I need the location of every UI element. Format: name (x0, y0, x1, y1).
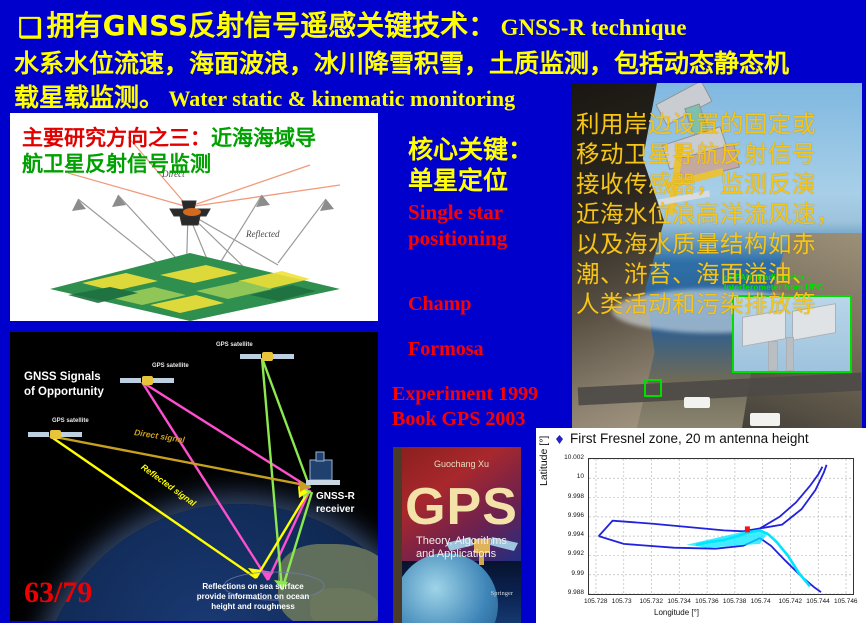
single-star-en-line2: positioning (408, 226, 558, 252)
gnss-signals-title-line1: GNSS Signals (24, 371, 101, 383)
book-subtitle-line1: Theory, Algorithms (416, 535, 507, 547)
chart-ytick: 10 (536, 473, 584, 480)
green-highlight-box (644, 379, 662, 397)
overlay-line-1: 利用岸边设置的固定或 (576, 109, 862, 139)
legend-diamond-icon (556, 435, 563, 444)
reflection-note: Reflections on sea surface provide infor… (193, 582, 313, 613)
chart-title: First Fresnel zone, 20 m antenna height (570, 431, 809, 446)
book-subtitle-line2: and Applications (416, 548, 496, 560)
gnss-signals-title-line2: of Opportunity (24, 386, 104, 398)
receiver-label-line2: receiver (316, 504, 354, 515)
chart-series-river-bank-outline-(north) (599, 467, 823, 536)
van-white (684, 397, 710, 408)
chart-series-graphic (589, 459, 853, 594)
van-camper (750, 413, 780, 426)
chart-xtick: 105.732 (640, 598, 664, 605)
item-formosa: Formosa (408, 338, 558, 361)
chart-xtick: 105.734 (667, 598, 691, 605)
white-panel-caption: 主要研究方向之三：近海海域导 航卫星反射信号监测 (22, 125, 316, 178)
chart-ytick: 9.988 (536, 589, 584, 596)
chart-ytick: 9.994 (536, 531, 584, 538)
chart-ytick: 9.99 (536, 570, 584, 577)
chart-xtick: 105.73 (612, 598, 632, 605)
satellite-label-1: GPS satellite (52, 418, 89, 424)
coast-overlay-text: 利用岸边设置的固定或 移动卫星导航反射信号 接收传感器，监测反演 近海水位浪高洋… (576, 109, 862, 320)
core-key-cn-line2: 单星定位 (408, 166, 558, 197)
chart-plot-area (588, 458, 854, 595)
core-key-cn-line1: 核心关键： (408, 135, 558, 166)
caption-red-text: 主要研究方向之三： (22, 126, 211, 150)
header-subtitle-cn-2: 载星载监测。 (14, 83, 164, 112)
reflection-diagram-panel: Direct Reflected 主要研究方向之三：近海海域导 航卫星反射信号监… (10, 113, 378, 321)
caption-green-line2: 航卫星反射信号监测 (22, 152, 211, 176)
header-line-2: 水系水位流速，海面波浪，冰川降雪积雪，土质监测，包括动态静态机 (14, 44, 789, 80)
gnss-signals-diagram-panel: GPS satellite GPS satellite GPS satellit… (10, 332, 378, 621)
chart-series-branch-outline-(east-north) (760, 465, 827, 529)
item-champ: Champ (408, 293, 558, 316)
overlay-line-5: 以及海水质量结构如赤 (576, 229, 862, 259)
header-line-1: ❑ 拥有GNSS反射信号遥感关键技术： GNSS-R technique (18, 4, 687, 44)
chart-ytick: 9.998 (536, 493, 584, 500)
chart-xtick: 105.738 (723, 598, 747, 605)
overlay-line-4: 近海水位浪高洋流风速， (576, 199, 862, 229)
chart-ytick: 10.002 (536, 454, 584, 461)
page-number: 63/79 (24, 576, 92, 610)
receiver-label-line1: GNSS-R (316, 491, 355, 502)
book-subtitle: Theory, Algorithms and Applications (416, 535, 516, 561)
chart-xlabel: Longitude [°] (654, 608, 699, 617)
item-experiment-1999: Experiment 1999 (392, 383, 558, 406)
header-title-cn: 拥有GNSS反射信号遥感关键技术： (47, 9, 497, 42)
chart-xtick: 105.728 (584, 598, 608, 605)
overlay-line-6: 潮、浒苔、海面溢油、 (576, 259, 862, 289)
caption-green-tail: 近海海域导 (211, 126, 316, 150)
header-subtitle-cn: 水系水位流速，海面波浪，冰川降雪积雪，土质监测，包括动态静态机 (14, 49, 789, 78)
chart-marker-antenna-position (745, 526, 750, 532)
slide-canvas: ❑ 拥有GNSS反射信号遥感关键技术： GNSS-R technique 水系水… (0, 0, 866, 623)
gps-book-cover: Guochang Xu GPS Theory, Algorithms and A… (393, 447, 521, 623)
gnss-signals-title: GNSS Signals of Opportunity (24, 370, 104, 400)
chart-xtick: 105.746 (834, 598, 858, 605)
book-title: GPS (402, 477, 521, 537)
book-author: Guochang Xu (402, 459, 521, 469)
header-subtitle-en: Water static & kinematic monitoring (168, 86, 515, 111)
chart-ytick: 9.992 (536, 550, 584, 557)
satellite-label-2: GPS satellite (152, 363, 189, 369)
chart-xtick: 105.742 (778, 598, 802, 605)
chart-xtick: 105.744 (806, 598, 830, 605)
satellite-3 (240, 350, 294, 363)
satellite-1 (28, 428, 82, 441)
single-star-en-line1: Single star (408, 200, 558, 226)
book-publisher: Springer (491, 590, 513, 597)
overlay-line-2: 移动卫星导航反射信号 (576, 139, 862, 169)
chart-xtick: 105.736 (695, 598, 719, 605)
overlay-line-7: 人类活动和污染排放等 (576, 289, 862, 319)
overlay-line-3: 接收传感器，监测反演 (576, 169, 862, 199)
satellite-2 (120, 374, 174, 387)
fresnel-zone-chart: First Fresnel zone, 20 m antenna height … (536, 428, 866, 623)
satellite-label-3: GPS satellite (216, 342, 253, 348)
chart-ytick: 9.996 (536, 512, 584, 519)
header-line-3: 载星载监测。 Water static & kinematic monitori… (14, 78, 515, 114)
header-title-en: GNSS-R technique (501, 15, 687, 40)
gnss-r-receiver-label: GNSS-R receiver (316, 491, 355, 516)
coastal-antenna-photo: griPAU: Radiometer - Interferometer from… (572, 83, 862, 428)
chart-xtick: 105.74 (751, 598, 771, 605)
square-bullet-icon: ❑ (18, 13, 42, 44)
item-book-gps-2003: Book GPS 2003 (392, 408, 558, 431)
reflected-label: Reflected (245, 229, 280, 239)
center-text-column: 核心关键： 单星定位 Single star positioning Champ… (408, 135, 558, 431)
